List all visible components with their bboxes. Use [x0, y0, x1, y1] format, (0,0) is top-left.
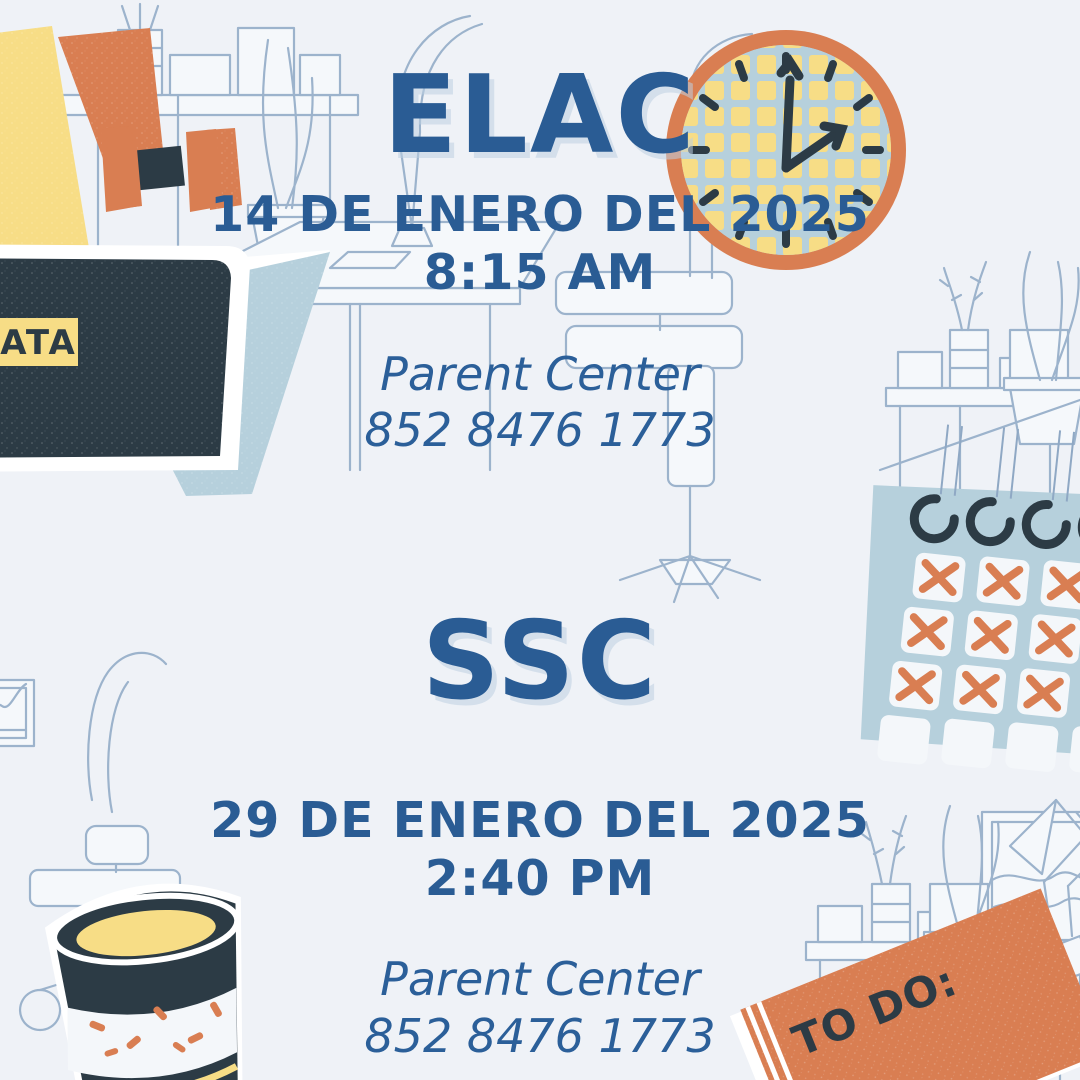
- meeting-title-elac: ELAC: [383, 62, 696, 170]
- venue-name-ssc: Parent Center: [364, 951, 715, 1007]
- poster-canvas: DATA: [0, 0, 1080, 1080]
- meeting-date-elac: 14 DE ENERO DEL 2025: [210, 186, 870, 244]
- venue-name-elac: Parent Center: [364, 346, 715, 402]
- meeting-title-ssc: SSC: [422, 608, 658, 716]
- meeting-time-ssc: 2:40 PM: [425, 850, 656, 908]
- meeting-venue-elac: Parent Center 852 8476 1773: [364, 346, 715, 458]
- venue-code-ssc: 852 8476 1773: [364, 1008, 715, 1064]
- meeting-venue-ssc: Parent Center 852 8476 1773: [364, 951, 715, 1063]
- meeting-time-elac: 8:15 AM: [424, 244, 657, 302]
- venue-code-elac: 852 8476 1773: [364, 402, 715, 458]
- meeting-date-ssc: 29 DE ENERO DEL 2025: [210, 792, 870, 850]
